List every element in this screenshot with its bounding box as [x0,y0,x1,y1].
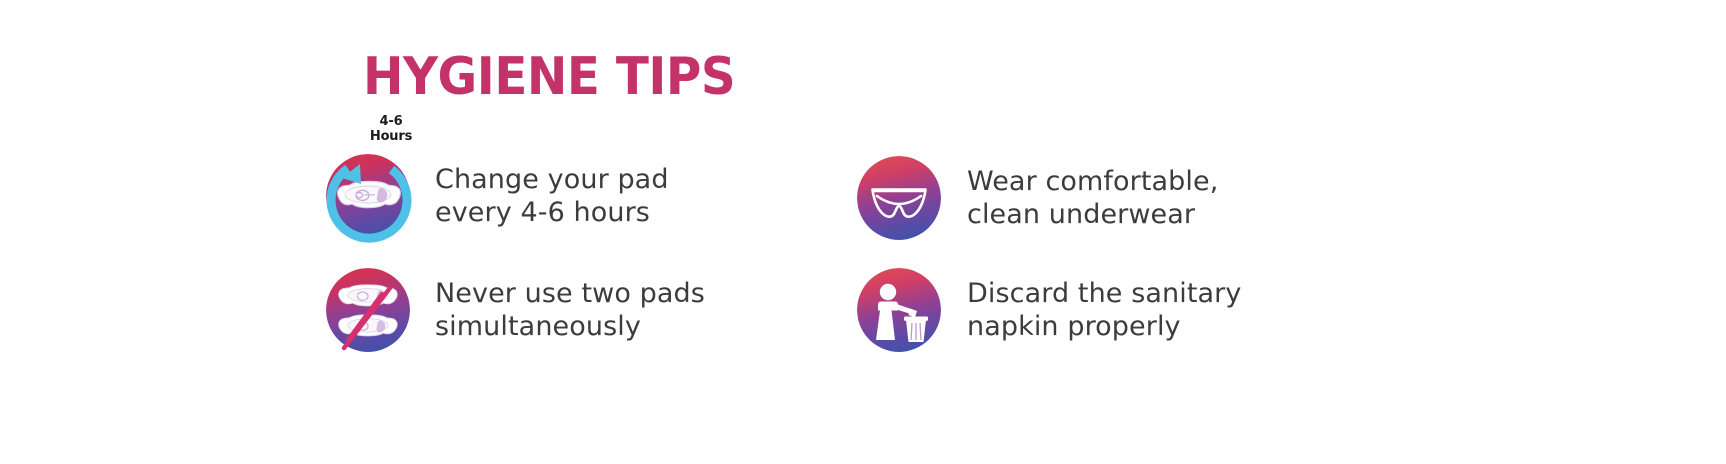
tip-label-change-pad: Change your pad every 4-6 hours [435,163,669,229]
tip-icon-discard-napkin [851,262,947,358]
tip-item-clean-underwear: Wear comfortable, clean underwear [851,150,1218,246]
tip-icon-change-pad: 4-6 Hours [320,148,416,244]
tip-icon-clean-underwear [851,150,947,246]
two-pads-crossed-out-icon [326,268,410,352]
person-dropping-waste-in-bin-icon [857,268,941,352]
tip-item-change-pad: 4-6 Hours Change your pad every 4-6 hour… [320,148,669,244]
tip-icon-no-two-pads [320,262,416,358]
page-title: HYGIENE TIPS [363,48,735,106]
tip-label-no-two-pads: Never use two pads simultaneously [435,277,705,343]
tip-item-no-two-pads: Never use two pads simultaneously [320,262,705,358]
tip-item-discard-napkin: Discard the sanitary napkin properly [851,262,1241,358]
sanitary-pad-refresh-icon [326,154,410,238]
underwear-icon [857,156,941,240]
tip-label-clean-underwear: Wear comfortable, clean underwear [967,165,1218,231]
tip-label-discard-napkin: Discard the sanitary napkin properly [967,277,1241,343]
hours-caption: 4-6 Hours [348,114,434,144]
hygiene-tips-poster: HYGIENE TIPS [0,0,1726,464]
